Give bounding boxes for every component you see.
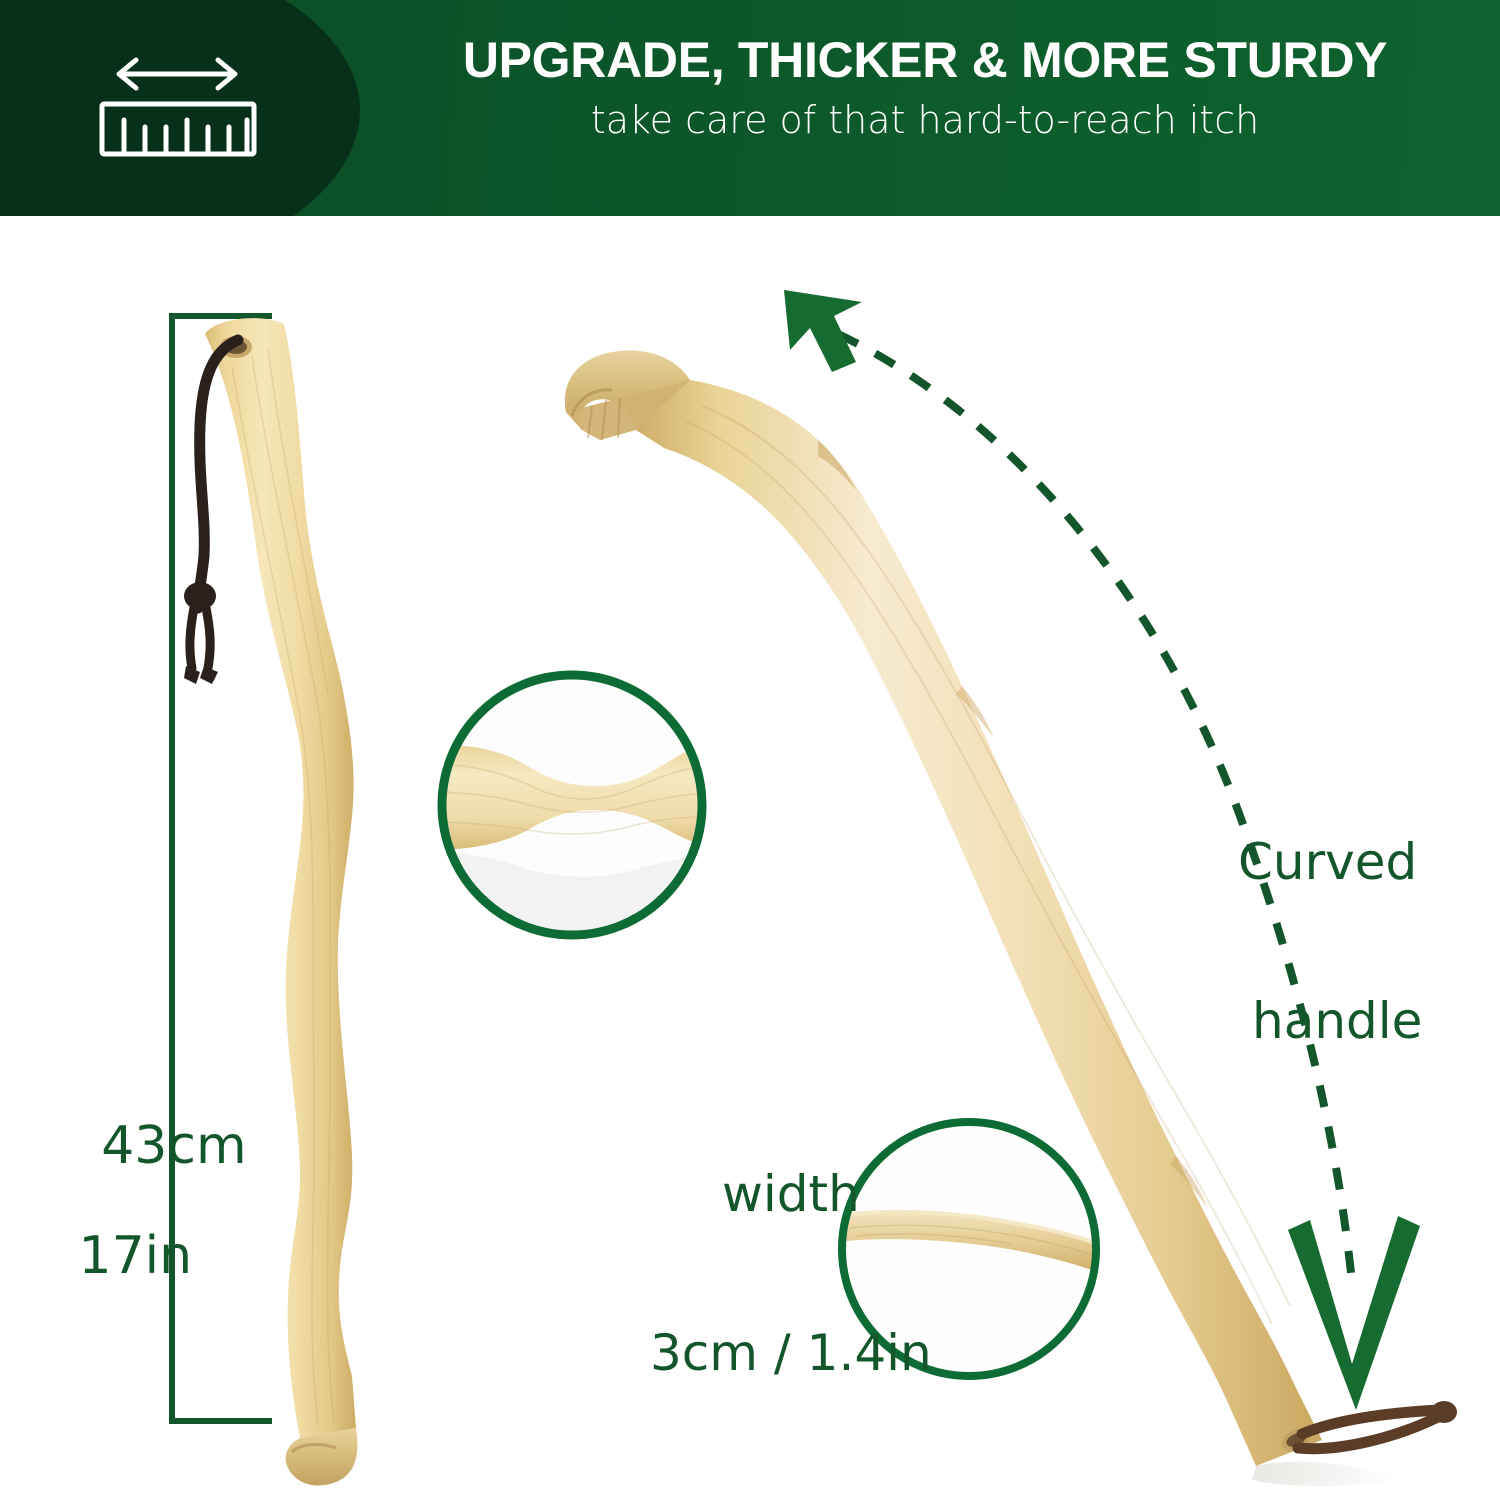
banner-text-block: UPGRADE, THICKER & MORE STURDY take care… <box>380 34 1470 142</box>
width-caption: width <box>650 1168 932 1221</box>
banner-title: UPGRADE, THICKER & MORE STURDY <box>380 34 1470 87</box>
width-value: 3cm / 1.4in <box>650 1327 932 1380</box>
length-in: 17in <box>2 1229 247 1284</box>
width-magnifier <box>430 656 730 956</box>
header-banner: UPGRADE, THICKER & MORE STURDY take care… <box>0 0 1500 216</box>
banner-subtitle: take care of that hard-to-reach itch <box>380 99 1470 143</box>
curved-line2: handle <box>1238 995 1422 1048</box>
length-label: 43cm 17in <box>2 1064 247 1395</box>
ruler-measure-icon <box>88 48 268 160</box>
curved-line1: Curved <box>1238 836 1422 889</box>
infographic-canvas: UPGRADE, THICKER & MORE STURDY take care… <box>0 0 1500 1500</box>
length-cm: 43cm <box>101 1116 246 1176</box>
width-label: width 3cm / 1.4in <box>650 1062 932 1486</box>
product-illustration-area: 43cm 17in width 3cm / 1.4in thickness 0.… <box>0 216 1500 1500</box>
thickness-label: thickness 0.7cm / 0.27in <box>466 1472 827 1500</box>
curved-handle-label: Curved handle <box>1238 730 1422 1154</box>
brown-cord-lanyard <box>1298 1410 1440 1449</box>
